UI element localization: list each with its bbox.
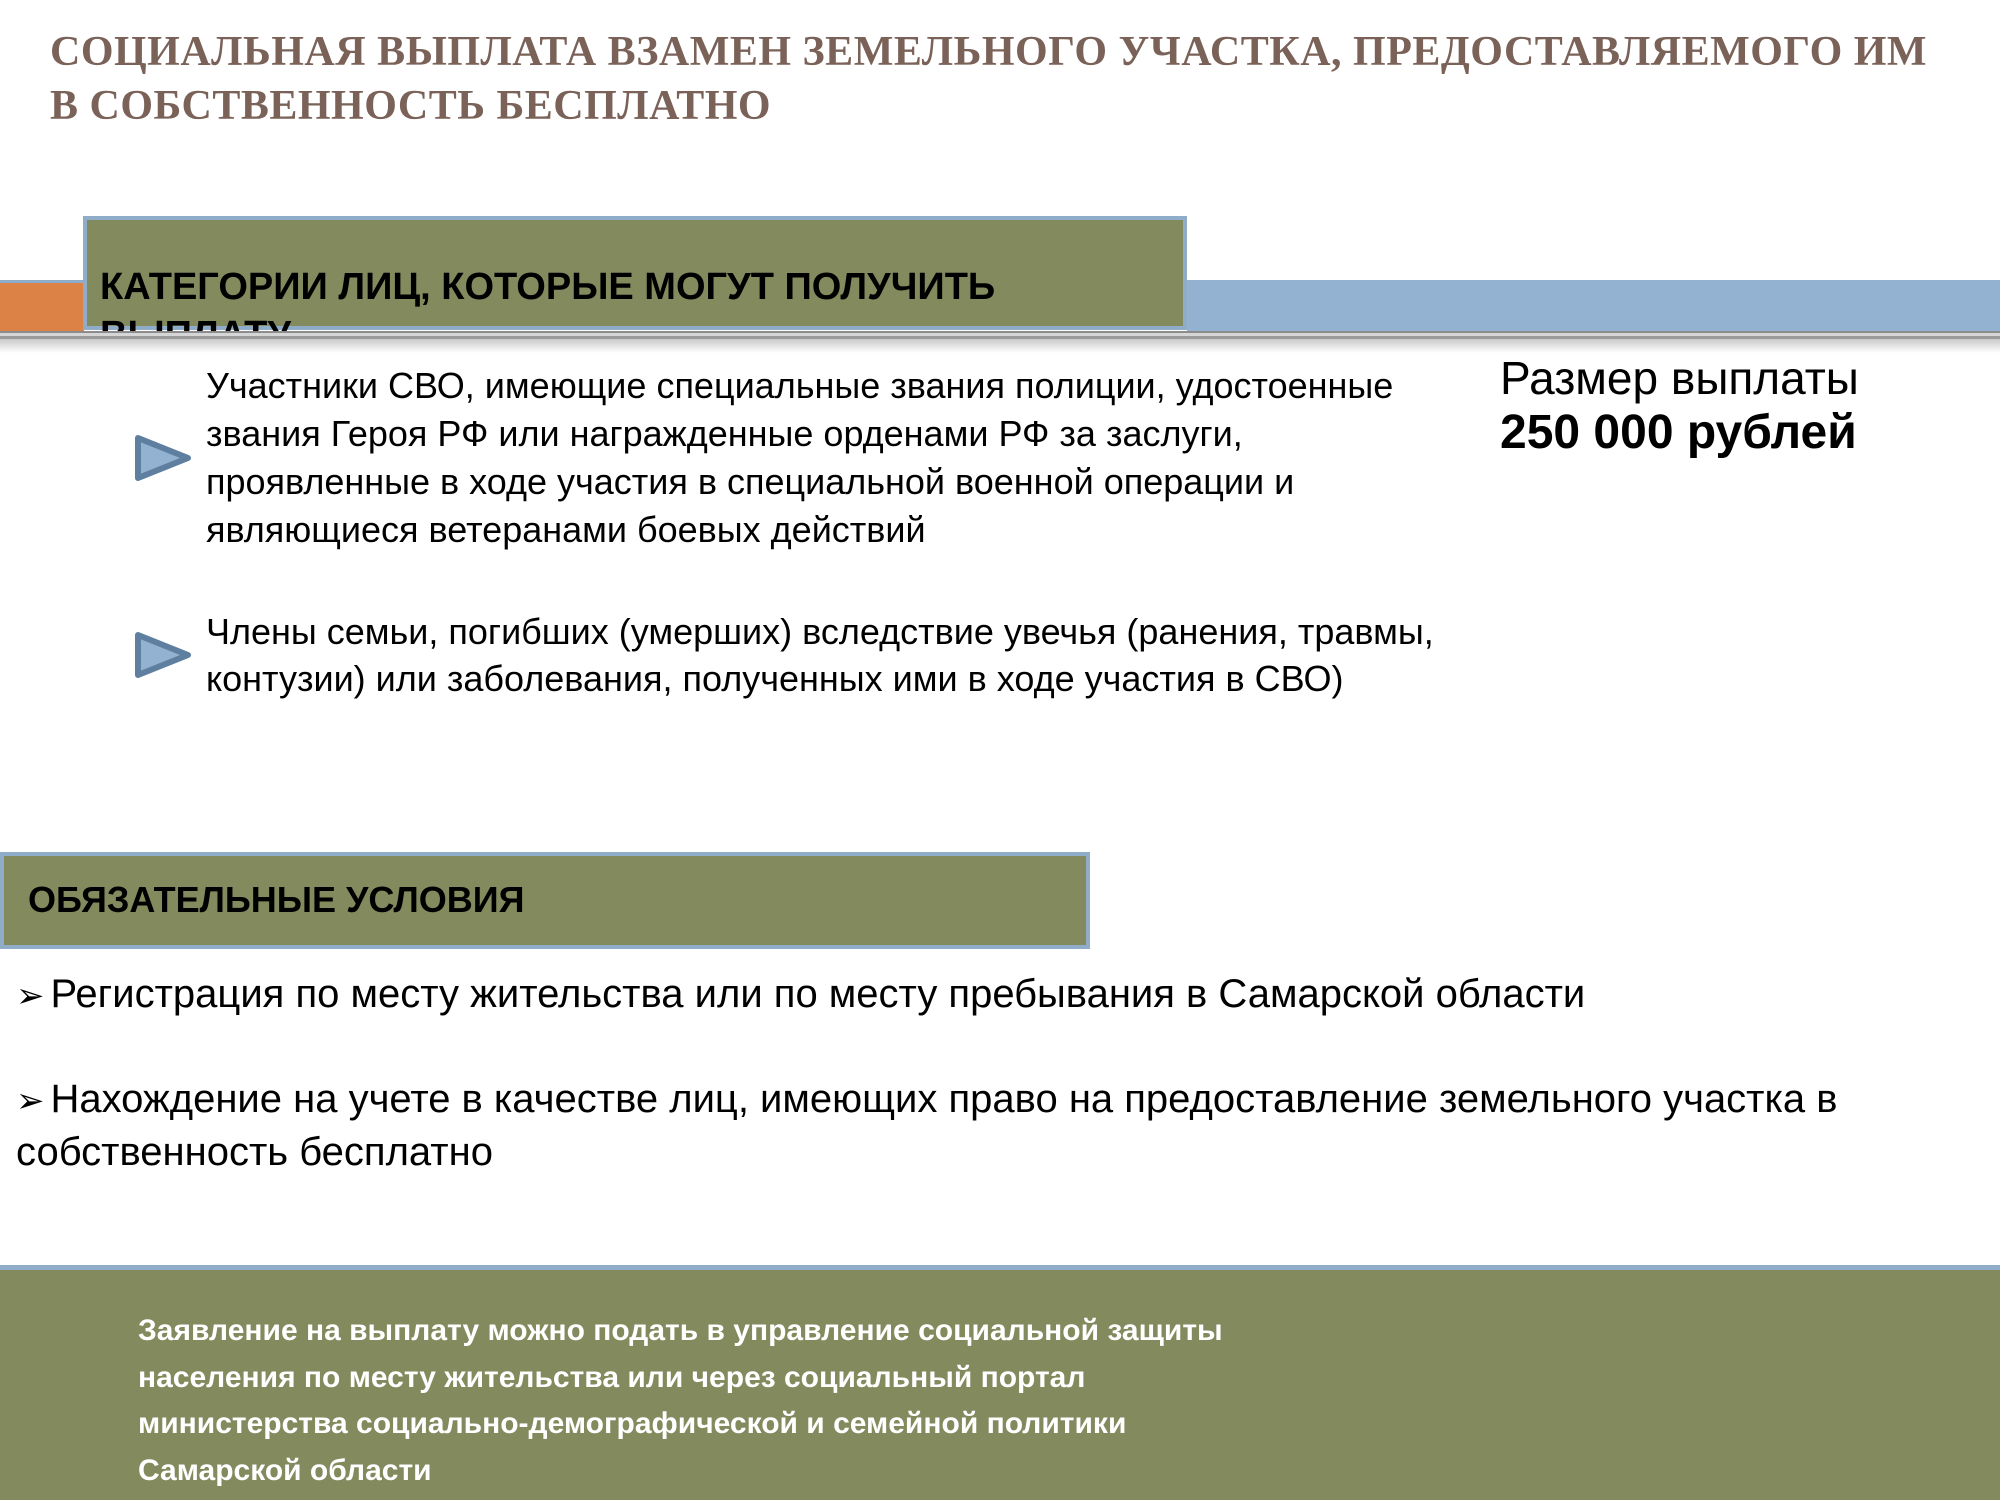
triangle-bullet-icon [130, 629, 194, 681]
arrow-bullet-icon: ➢ [16, 1081, 51, 1121]
list-item-label: Регистрация по месту жительства или по м… [51, 972, 1586, 1016]
footer-note-panel: Заявление на выплату можно подать в упра… [0, 1265, 2000, 1500]
categories-list: Участники СВО, имеющие специальные звани… [130, 362, 1500, 757]
blue-accent-bar [1187, 280, 2000, 331]
orange-accent-bar [0, 280, 84, 334]
header-band-shadow [0, 331, 2000, 353]
arrow-bullet-icon: ➢ [16, 976, 51, 1016]
footer-note-text: Заявление на выплату можно подать в упра… [138, 1308, 1758, 1494]
page-title: СОЦИАЛЬНАЯ ВЫПЛАТА ВЗАМЕН ЗЕМЕЛЬНОГО УЧА… [50, 26, 1950, 134]
list-item-label: Члены семьи, погибших (умерших) вследств… [206, 608, 1500, 704]
payment-amount-block: Размер выплаты 250 000 рублей [1500, 353, 1990, 459]
list-item: Члены семьи, погибших (умерших) вследств… [130, 608, 1500, 704]
payment-amount-value: 250 000 рублей [1500, 406, 1990, 460]
conditions-heading-label: ОБЯЗАТЕЛЬНЫЕ УСЛОВИЯ [28, 878, 525, 921]
list-item: ➢Регистрация по месту жительства или по … [16, 968, 1976, 1021]
conditions-heading-box: ОБЯЗАТЕЛЬНЫЕ УСЛОВИЯ [0, 852, 1090, 949]
conditions-list: ➢Регистрация по месту жительства или по … [16, 968, 1976, 1232]
categories-heading-box: КАТЕГОРИИ ЛИЦ, КОТОРЫЕ МОГУТ ПОЛУЧИТЬ ВЫ… [83, 216, 1187, 330]
list-item-label: Нахождение на учете в качестве лиц, имею… [16, 1077, 1838, 1174]
list-item: ➢Нахождение на учете в качестве лиц, име… [16, 1073, 1976, 1179]
list-item-label: Участники СВО, имеющие специальные звани… [206, 362, 1476, 554]
payment-amount-label: Размер выплаты [1500, 353, 1990, 404]
triangle-bullet-icon [130, 432, 194, 484]
list-item: Участники СВО, имеющие специальные звани… [130, 362, 1500, 554]
